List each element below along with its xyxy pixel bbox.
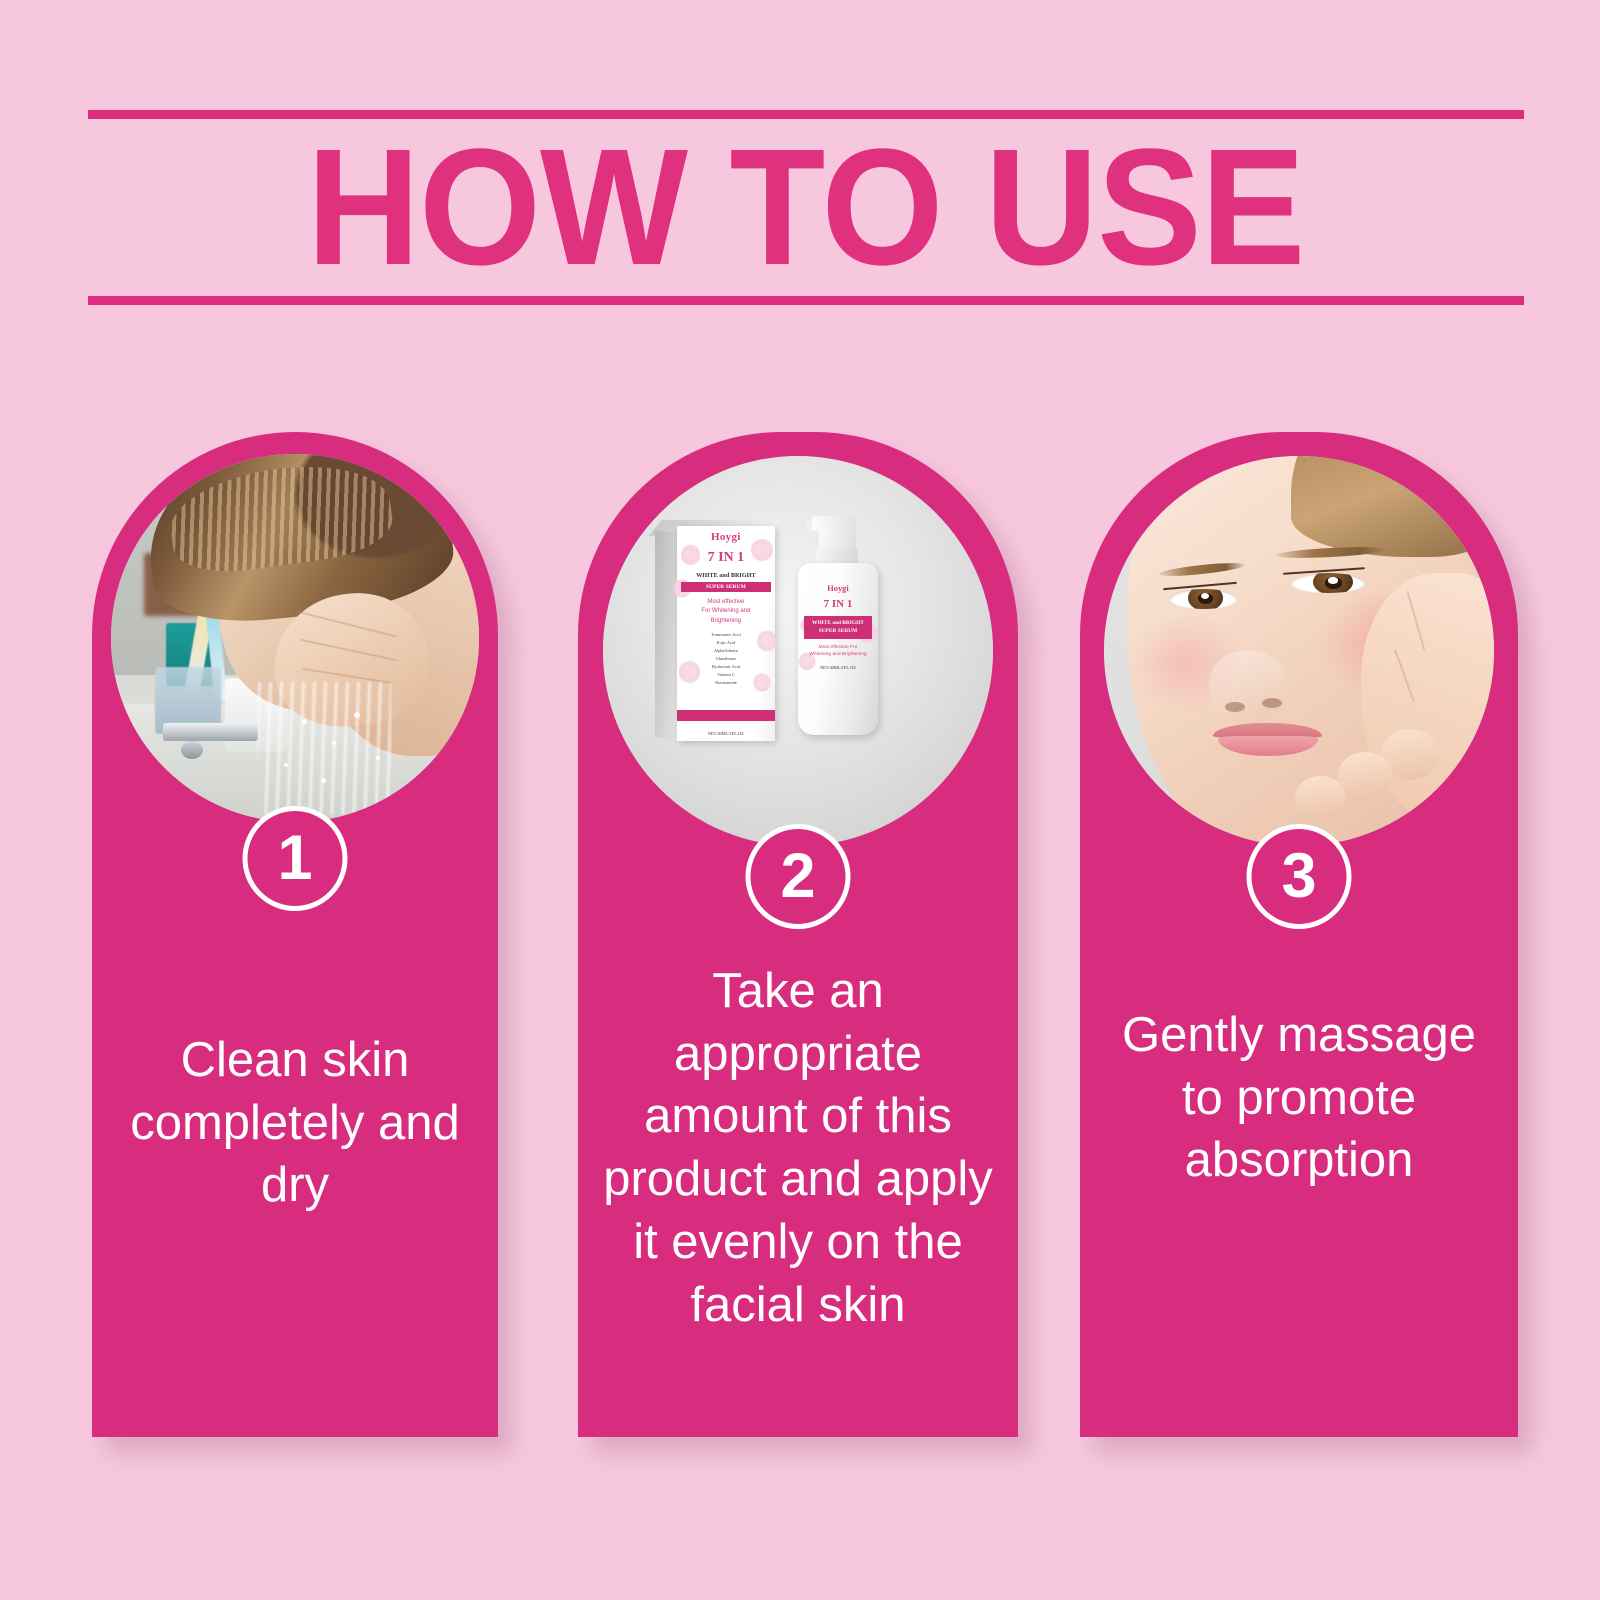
bottle-claim-line2: Whitening and Brightening (809, 652, 866, 657)
product-variant: 7 IN 1 (681, 550, 771, 566)
step-3-image (1104, 456, 1494, 846)
product-line1: WHITE and BRIGHT (681, 572, 771, 579)
ingredient-item: Glutathione (681, 655, 771, 663)
product-ingredients: Tranexamic Acid Kojic Acid AlphaArbutin … (681, 631, 771, 687)
step-caption-3: Gently massage to promote absorption (1098, 1004, 1501, 1192)
ingredient-item: Tranexamic Acid (681, 631, 771, 639)
product-line2: SUPER SERUM (681, 582, 771, 592)
bottle-band: WHITE and BRIGHT SUPER SERUM (804, 616, 873, 639)
face-massage-illustration (1104, 456, 1494, 846)
page-title: HOW TO USE (88, 134, 1524, 282)
bottle-brand: Hoygi (804, 584, 873, 593)
bottle-net-content: NET:30ML/1FL.OZ (804, 665, 873, 670)
step-2-image: Hoygi 7 IN 1 WHITE and BRIGHT SUPER SERU… (603, 456, 993, 846)
step-number-badge-3: 3 (1247, 824, 1352, 929)
step-caption-1: Clean skin completely and dry (108, 1029, 482, 1217)
header-rule-bottom (88, 296, 1524, 305)
bottle-band-line2: SUPER SERUM (819, 628, 858, 634)
product-claim: Most effectiveFor Whitening andBrighteni… (681, 598, 771, 626)
step-card-2[interactable]: Hoygi 7 IN 1 WHITE and BRIGHT SUPER SERU… (578, 432, 1018, 1437)
step-number-badge-2: 2 (746, 824, 851, 929)
page-title-text: HOW TO USE (307, 125, 1305, 291)
step-card-3[interactable]: 3 Gently massage to promote absorption (1080, 432, 1518, 1437)
product-bottle: Hoygi 7 IN 1 WHITE and BRIGHT SUPER SERU… (798, 563, 878, 735)
step-card-1[interactable]: 1 Clean skin completely and dry (92, 432, 498, 1437)
step-number-badge-1: 1 (243, 806, 348, 911)
ingredient-item: Niacinamide (681, 679, 771, 687)
bottle-band-line1: WHITE and BRIGHT (812, 620, 864, 626)
bottle-claim: Most effective For Whitening and Brighte… (804, 644, 873, 659)
bottle-variant: 7 IN 1 (804, 598, 873, 610)
step-caption-2: Take an appropriate amount of this produ… (596, 960, 1001, 1336)
ingredient-item: Hyaluronic Acid (681, 663, 771, 671)
ingredient-item: Vitamin C (681, 671, 771, 679)
ingredient-item: Kojic Acid (681, 639, 771, 647)
page-header: HOW TO USE (88, 110, 1524, 305)
bottle-claim-line1: Most effective For (819, 645, 858, 650)
washing-face-illustration (111, 454, 479, 822)
step-1-image (111, 454, 479, 822)
product-photo: Hoygi 7 IN 1 WHITE and BRIGHT SUPER SERU… (603, 456, 993, 846)
product-box: Hoygi 7 IN 1 WHITE and BRIGHT SUPER SERU… (677, 526, 775, 741)
ingredient-item: AlphaArbutin (681, 647, 771, 655)
product-net-content: NET:30ML/1FL.OZ (677, 731, 775, 736)
product-brand: Hoygi (681, 531, 771, 543)
